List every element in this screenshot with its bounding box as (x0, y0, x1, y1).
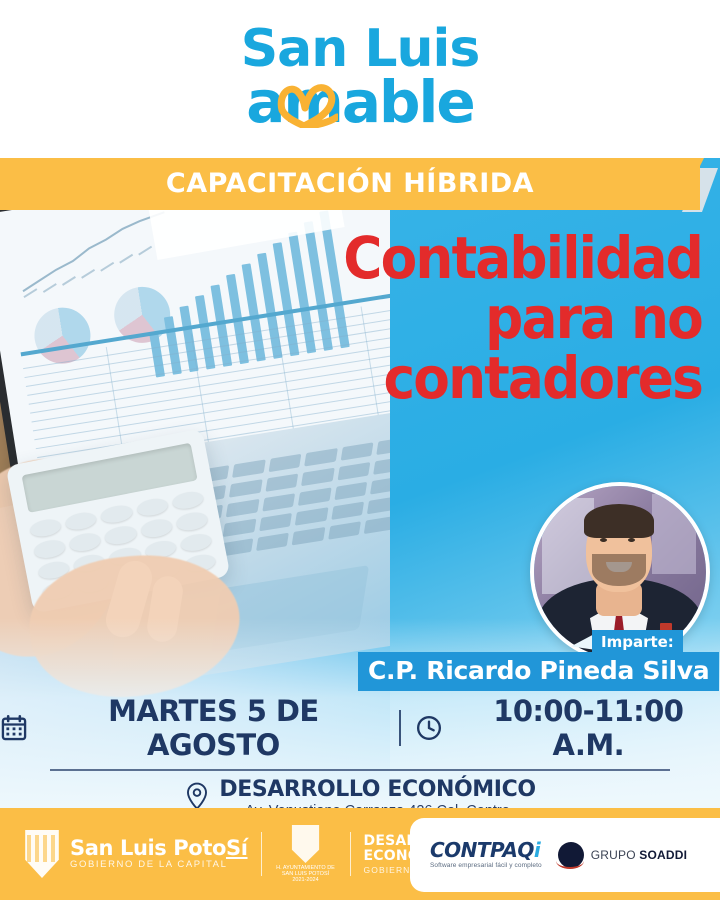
promotional-poster: San Luis amable CAPACITACIÓN HÍBRIDA Con… (0, 0, 720, 900)
soaddi-grupo: GRUPO (591, 848, 640, 862)
soaddi-circle-icon (558, 842, 584, 868)
poster-title: Contabilidad para no contadores (316, 228, 702, 408)
title-line-1: Contabilidad (316, 228, 702, 288)
title-line-3: contadores (316, 348, 702, 408)
gov-logo: San Luis PotoSí GOBIERNO DE LA CAPITAL (22, 830, 248, 878)
calendar-icon (0, 714, 28, 742)
footer-divider (261, 832, 262, 876)
soaddi-name: GRUPO SOADDI (591, 848, 687, 862)
clock-icon (415, 714, 443, 742)
logo-line-amable: amable (0, 72, 720, 132)
speaker-name: C.P. Ricardo Pineda Silva (358, 652, 719, 691)
contpaq-wordmark: CONTPAQ (430, 838, 534, 862)
municipal-seal-block: H. AYUNTAMIENTO DE SAN LUIS POTOSÍ 2021-… (275, 825, 337, 883)
municipal-seal-icon (289, 825, 323, 863)
header-logo-area: San Luis amable (0, 0, 720, 158)
gov-subtitle: GOBIERNO DE LA CAPITAL (70, 859, 248, 871)
gov-name: San Luis PotoSí (70, 837, 248, 859)
event-time: 10:00-11:00 A.M. (457, 694, 720, 762)
gov-name-a: San Luis Poto (70, 836, 226, 860)
event-date: MARTES 5 DE AGOSTO (42, 694, 385, 762)
gov-name-b: Sí (226, 836, 248, 860)
event-info: MARTES 5 DE AGOSTO 10:00-11:00 A.M. DESA… (0, 694, 720, 820)
contpaq-i-mark: i (534, 838, 540, 862)
ribbon-label: CAPACITACIÓN HÍBRIDA (0, 158, 700, 210)
soaddi-logo: GRUPO SOADDI (558, 842, 687, 868)
sponsor-card: CONTPAQi Software empresarial fácil y co… (410, 818, 720, 892)
contpaq-logo: CONTPAQi Software empresarial fácil y co… (430, 840, 542, 870)
footer-divider (350, 832, 351, 876)
san-luis-amable-logo: San Luis amable (0, 22, 720, 134)
event-venue: DESARROLLO ECONÓMICO (219, 778, 535, 802)
title-line-2: para no (316, 288, 702, 348)
contpaq-name: CONTPAQi (430, 840, 542, 860)
divider (399, 710, 401, 746)
event-date-time-row: MARTES 5 DE AGOSTO 10:00-11:00 A.M. (0, 694, 720, 762)
coat-of-arms-icon (22, 830, 62, 878)
contpaq-tagline: Software empresarial fácil y completo (430, 863, 542, 870)
municipal-seal-caption: H. AYUNTAMIENTO DE SAN LUIS POTOSÍ 2021-… (275, 865, 337, 883)
soaddi-brand: SOADDI (639, 848, 687, 862)
info-divider-line (50, 769, 670, 771)
